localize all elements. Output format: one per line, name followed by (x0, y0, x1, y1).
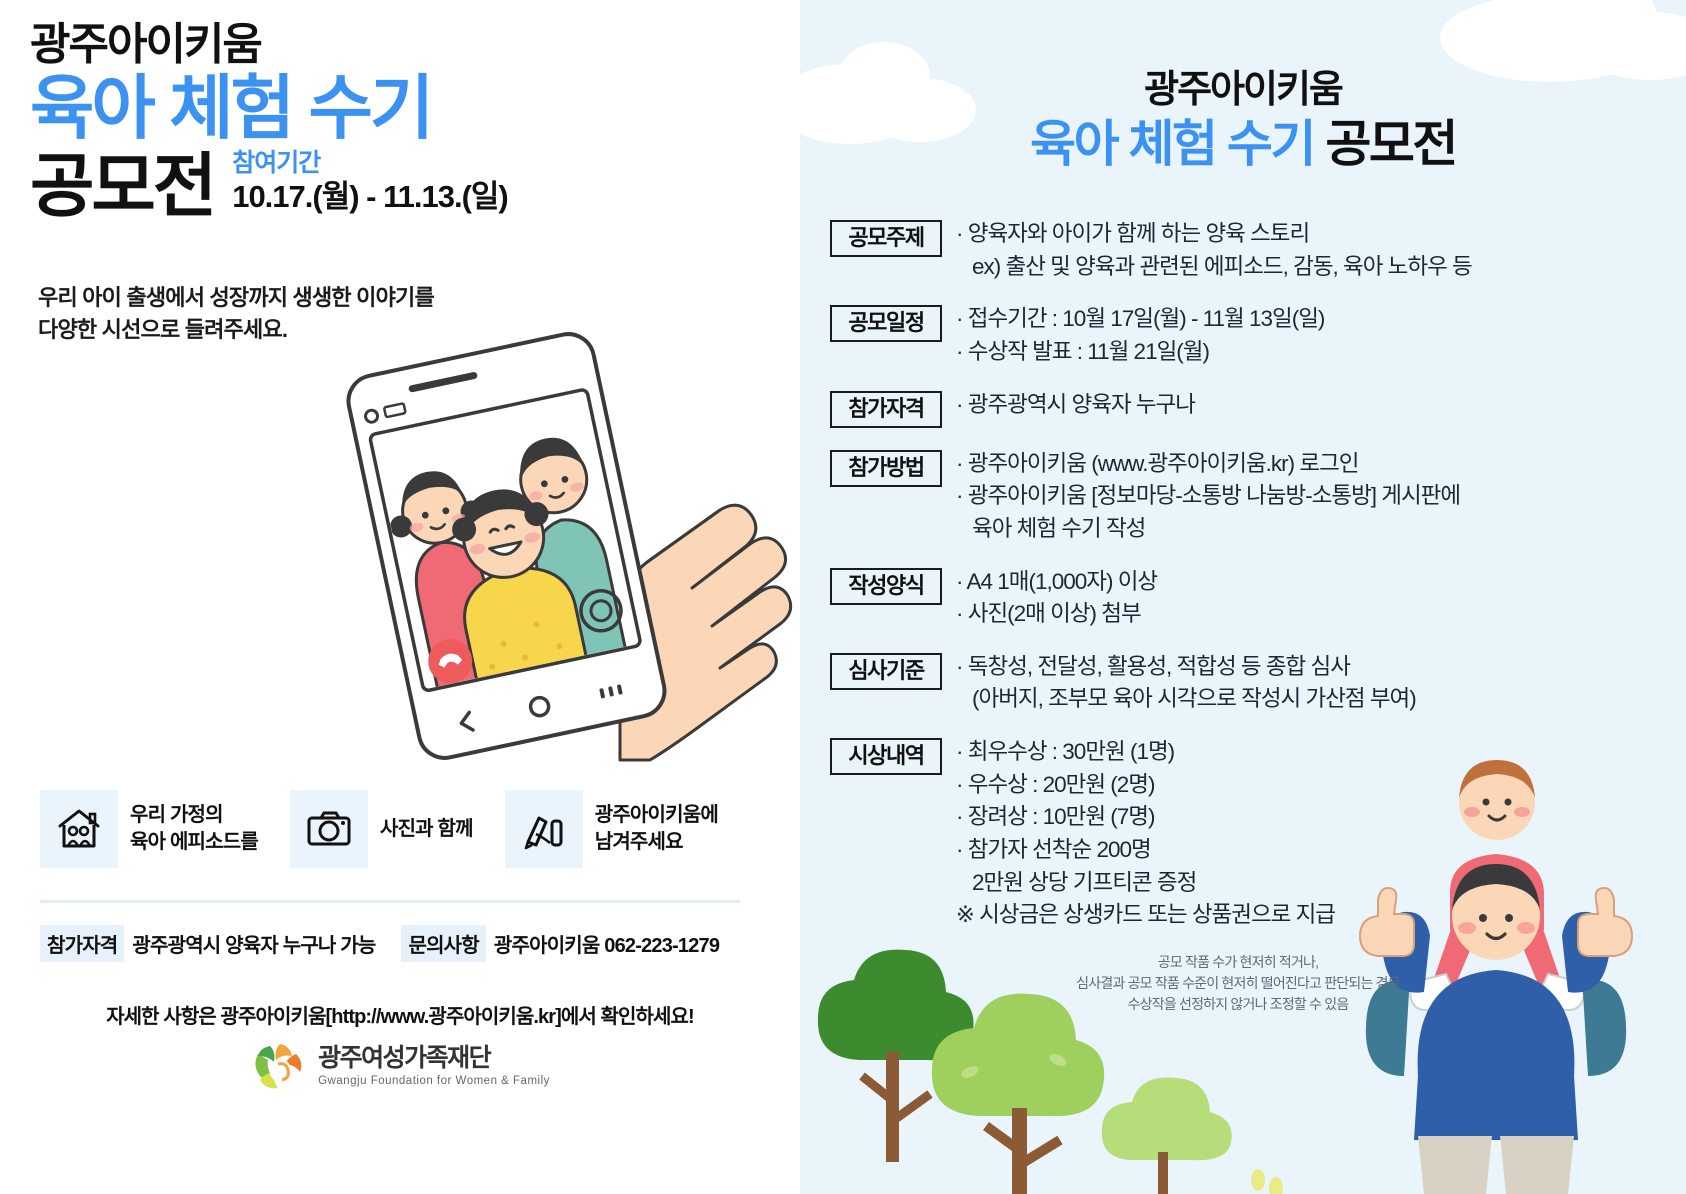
row-line: · 광주아이키움 [정보마당-소통방 나눔방-소통방] 게시판에 (956, 483, 1460, 508)
icon-caption-3-line2: 남겨주세요 (595, 829, 718, 856)
disclaimer-line: 수상작을 선정하지 않거나 조정할 수 있음 (830, 994, 1646, 1015)
icon-caption-1-line2: 육아 에피소드를 (130, 829, 258, 856)
icon-caption-1: 우리 가정의 육아 에피소드를 (130, 802, 258, 856)
disclaimer-line: 심사결과 공모 작품 수준이 현저히 떨어진다고 판단되는 경우 (830, 973, 1646, 994)
row-badge: 시상내역 (830, 738, 942, 775)
bush-icon (1090, 1020, 1310, 1194)
house-icon (40, 790, 118, 868)
row-badge: 공모일정 (830, 305, 942, 342)
row-badge: 공모주제 (830, 220, 942, 257)
subtitle-line-1: 우리 아이 출생에서 성장까지 생생한 이야기를 (38, 282, 434, 314)
info-value-contact: 광주아이키움 062-223-1279 (494, 929, 719, 958)
right-brand-title: 광주아이키움 (800, 70, 1686, 112)
disclaimer-line: 공모 작품 수가 현저히 적거나, (830, 952, 1646, 973)
period-block: 참여기간 10.17.(월) - 11.13.(일) (232, 148, 508, 221)
row-line: 2만원 상당 기프티콘 증정 (956, 867, 1335, 900)
camera-icon (290, 790, 368, 868)
row-text: · 양육자와 아이가 함께 하는 양육 스토리 ex) 출산 및 양육과 관련된… (956, 218, 1472, 283)
row-line: · 양육자와 아이가 함께 하는 양육 스토리 (956, 221, 1309, 246)
row-line: · 광주광역시 양육자 누구나 (956, 392, 1195, 417)
flower-logo-icon (250, 1040, 308, 1092)
row-line: · 수상작 발표 : 11월 21일(월) (956, 339, 1209, 364)
row-line: · 장려상 : 10만원 (7명) (956, 804, 1154, 829)
row-text: · 광주광역시 양육자 누구나 (956, 389, 1195, 422)
disclaimer: 공모 작품 수가 현저히 적거나, 심사결과 공모 작품 수준이 현저히 떨어진… (830, 952, 1686, 1015)
brand-title: 광주아이키움 (30, 22, 770, 68)
left-headline-block: 광주아이키움 육아 체험 수기 공모전 참여기간 10.17.(월) - 11.… (30, 22, 770, 221)
detail-row: 시상내역 · 최우수상 : 30만원 (1명) · 우수상 : 20만원 (2명… (830, 736, 1686, 932)
logo-name-kr: 광주여성가족재단 (318, 1046, 490, 1071)
row-line: ex) 출산 및 양육과 관련된 에피소드, 감동, 육아 노하우 등 (956, 251, 1472, 284)
right-main-title: 육아 체험 수기 공모전 (800, 116, 1686, 174)
pen-hand-icon (505, 790, 583, 868)
headline-black: 공모전 (30, 151, 214, 221)
icon-caption-2: 사진과 함께 (380, 816, 473, 843)
row-line: · A4 1매(1,000자) 이상 (956, 569, 1157, 594)
row-badge: 심사기준 (830, 653, 942, 690)
row-line: · 독창성, 전달성, 활용성, 적합성 등 종합 심사 (956, 654, 1350, 679)
info-tag-qualification: 참가자격 (40, 925, 124, 962)
divider (40, 900, 740, 903)
row-line: · 광주아이키움 (www.광주아이키움.kr) 로그인 (956, 451, 1358, 476)
row-text: · 최우수상 : 30만원 (1명) · 우수상 : 20만원 (2명) · 장… (956, 736, 1335, 932)
icon-caption-3: 광주아이키움에 남겨주세요 (595, 802, 718, 856)
icon-caption-3-line1: 광주아이키움에 (595, 802, 718, 829)
info-bar: 참가자격 광주광역시 양육자 누구나 가능 문의사항 광주아이키움 062-22… (40, 925, 750, 962)
row-badge: 참가자격 (830, 391, 942, 428)
row-text: · A4 1매(1,000자) 이상 · 사진(2매 이상) 첨부 (956, 566, 1157, 631)
row-text: · 광주아이키움 (www.광주아이키움.kr) 로그인 · 광주아이키움 [정… (956, 448, 1460, 546)
row-badge: 작성양식 (830, 568, 942, 605)
row-line: · 사진(2매 이상) 첨부 (956, 601, 1141, 626)
headline-blue: 육아 체험 수기 (30, 72, 770, 146)
organization-logo: 광주여성가족재단 Gwangju Foundation for Women & … (0, 1040, 800, 1092)
phone-family-illustration (320, 330, 790, 760)
row-line: (아버지, 조부모 육아 시각으로 작성시 가산점 부여) (956, 683, 1416, 716)
icon-group-2: 사진과 함께 (290, 790, 473, 868)
row-line: · 우수상 : 20만원 (2명) (956, 772, 1154, 797)
period-date: 10.17.(월) - 11.13.(일) (232, 178, 508, 215)
detail-row: 참가자격 · 광주광역시 양육자 누구나 (830, 389, 1686, 428)
icon-row: 우리 가정의 육아 에피소드를 사진과 함께 (40, 790, 740, 868)
row-text: · 독창성, 전달성, 활용성, 적합성 등 종합 심사 (아버지, 조부모 육… (956, 651, 1416, 716)
left-panel: 광주아이키움 육아 체험 수기 공모전 참여기간 10.17.(월) - 11.… (0, 0, 800, 1194)
icon-group-3: 광주아이키움에 남겨주세요 (505, 790, 718, 868)
detail-rows: 공모주제 · 양육자와 아이가 함께 하는 양육 스토리 ex) 출산 및 양육… (830, 218, 1686, 1015)
detail-row: 작성양식 · A4 1매(1,000자) 이상 · 사진(2매 이상) 첨부 (830, 566, 1686, 631)
row-line: · 접수기간 : 10월 17일(월) - 11월 13일(일) (956, 306, 1324, 331)
right-panel: 광주아이키움 육아 체험 수기 공모전 공모주제 · 양육자와 아이가 함께 하… (800, 0, 1686, 1194)
detail-row: 공모일정 · 접수기간 : 10월 17일(월) - 11월 13일(일) · … (830, 303, 1686, 368)
detail-row: 참가방법 · 광주아이키움 (www.광주아이키움.kr) 로그인 · 광주아이… (830, 448, 1686, 546)
row-badge: 참가방법 (830, 450, 942, 487)
info-tag-contact: 문의사항 (401, 925, 485, 962)
left-footnote: 자세한 사항은 광주아이키움[http://www.광주아이키움.kr]에서 확… (0, 1000, 800, 1029)
row-line: · 최우수상 : 30만원 (1명) (956, 739, 1174, 764)
icon-caption-2-line1: 사진과 함께 (380, 816, 473, 843)
right-headline-block: 광주아이키움 육아 체험 수기 공모전 (800, 70, 1686, 173)
detail-row: 공모주제 · 양육자와 아이가 함께 하는 양육 스토리 ex) 출산 및 양육… (830, 218, 1686, 283)
row-line: · 참가자 선착순 200명 (956, 837, 1151, 862)
row-line-asterisk: ※ 시상금은 상생카드 또는 상품권으로 지급 (956, 902, 1335, 927)
row-text: · 접수기간 : 10월 17일(월) - 11월 13일(일) · 수상작 발… (956, 303, 1324, 368)
icon-caption-1-line1: 우리 가정의 (130, 802, 258, 829)
info-value-qualification: 광주광역시 양육자 누구나 가능 (132, 929, 375, 958)
period-label: 참여기간 (232, 148, 508, 178)
icon-group-1: 우리 가정의 육아 에피소드를 (40, 790, 258, 868)
logo-text: 광주여성가족재단 Gwangju Foundation for Women & … (318, 1046, 550, 1087)
right-title-blue: 육아 체험 수기 (1030, 116, 1314, 172)
poster: 광주아이키움 육아 체험 수기 공모전 참여기간 10.17.(월) - 11.… (0, 0, 1686, 1194)
right-title-black: 공모전 (1325, 116, 1456, 172)
logo-name-en: Gwangju Foundation for Women & Family (318, 1075, 550, 1087)
detail-row: 심사기준 · 독창성, 전달성, 활용성, 적합성 등 종합 심사 (아버지, … (830, 651, 1686, 716)
row-line: 육아 체험 수기 작성 (956, 513, 1460, 546)
